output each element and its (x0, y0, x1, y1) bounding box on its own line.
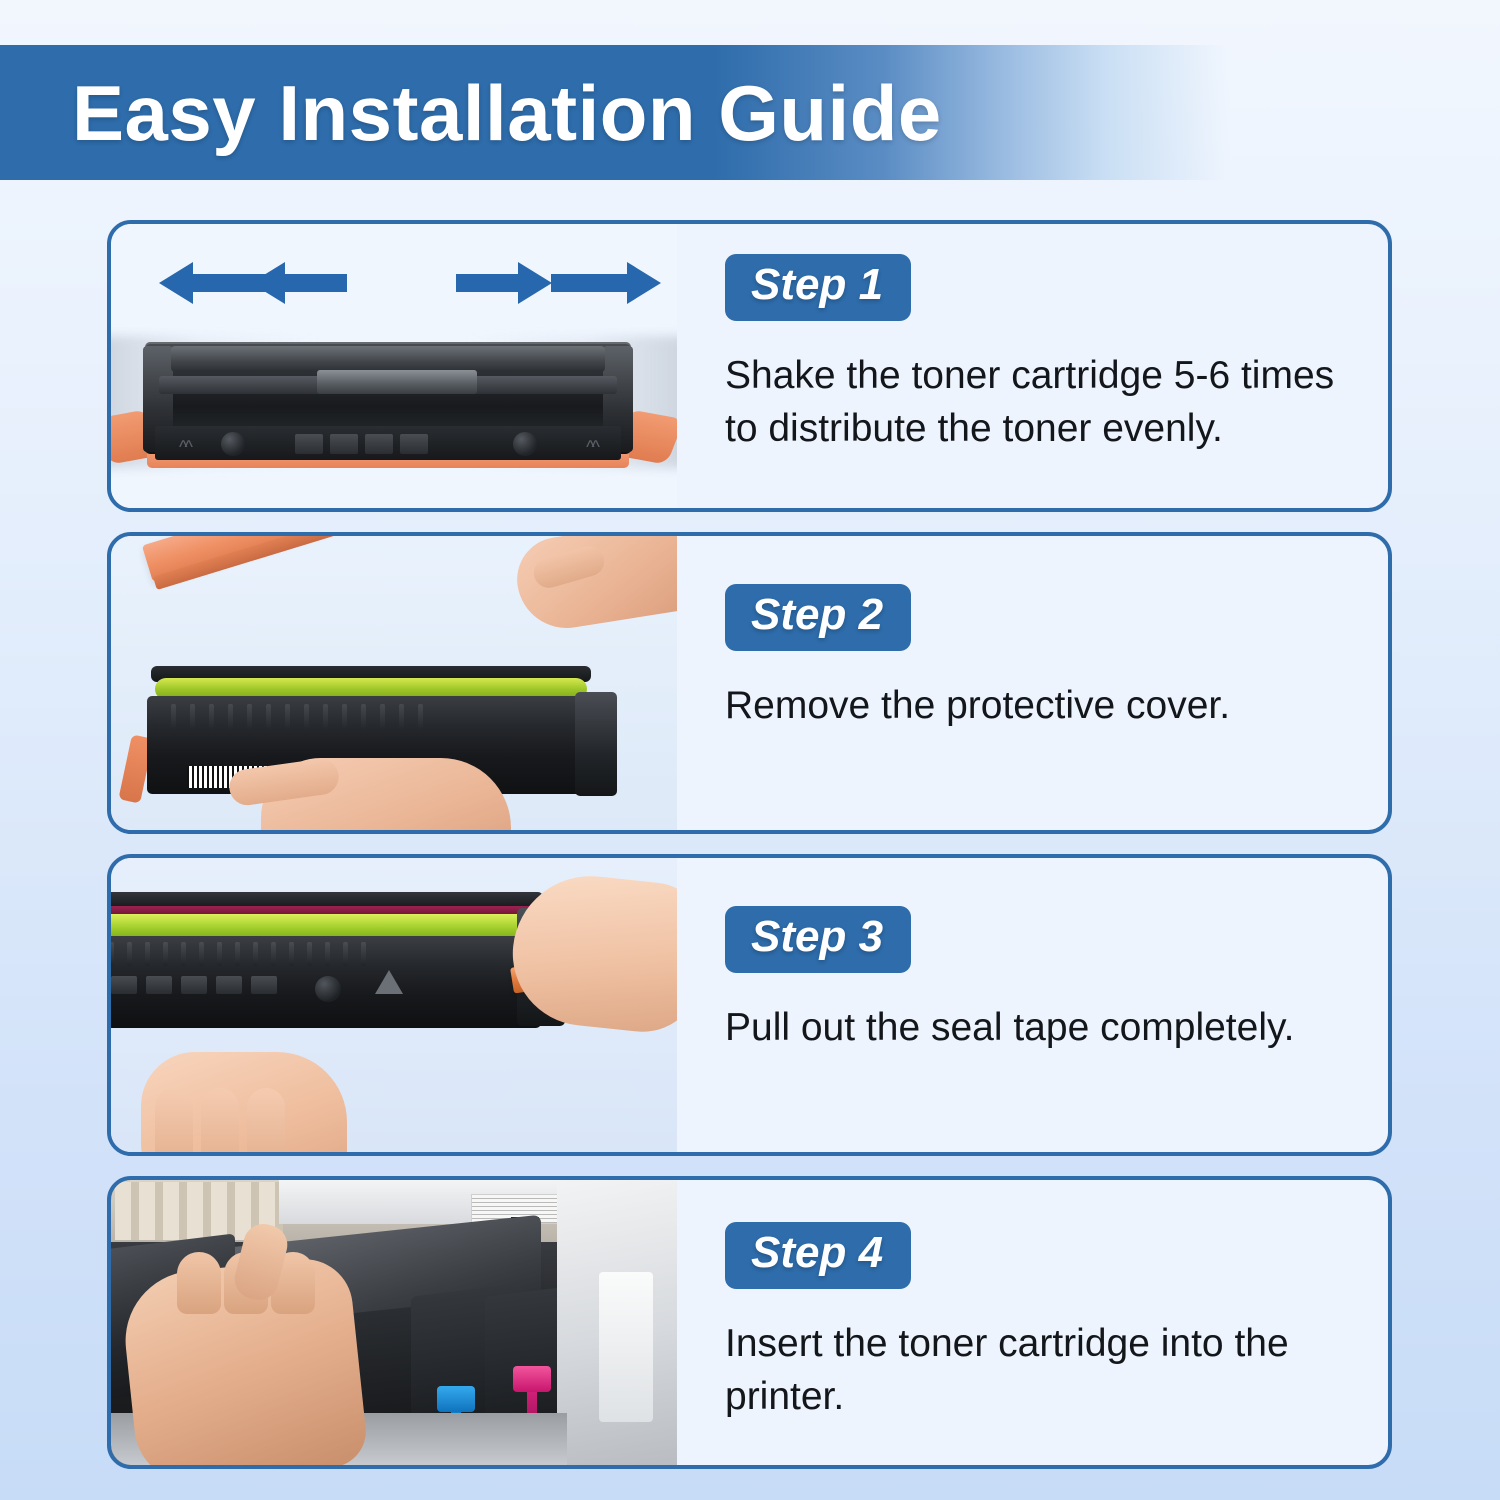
cartridge-ribs (171, 704, 423, 730)
step-1-badge: Step 1 (725, 254, 911, 321)
cartridge-chevron-right-icon: ^^ (586, 437, 597, 458)
cartridge-up-arrow-icon (375, 970, 403, 994)
shake-arrow-right-2-icon (551, 262, 661, 304)
step-3-text: Pull out the seal tape completely. (725, 1001, 1335, 1055)
shake-arrow-right-1-icon (456, 262, 552, 304)
step-card-2: Step 2 Remove the protective cover. (107, 532, 1392, 834)
cartridge-graphic (111, 892, 553, 1028)
step-card-4: Step 4 Insert the toner cartridge into t… (107, 1176, 1392, 1469)
cartridge-chevron-left-icon: ^^ (179, 437, 190, 458)
magenta-clip (513, 1366, 551, 1392)
step-1-text: Shake the toner cartridge 5-6 times to d… (725, 349, 1335, 457)
cartridge-warning-pictograms (111, 976, 277, 994)
cartridge-warning-pictograms (295, 434, 428, 454)
step-2-image (111, 536, 677, 830)
step-2-text: Remove the protective cover. (725, 679, 1335, 733)
cartridge-top-rail (171, 346, 605, 372)
green-imaging-drum (111, 914, 539, 938)
step-4-badge: Step 4 (725, 1222, 911, 1289)
step-4-image (111, 1180, 677, 1465)
cartridge-hole-left (221, 432, 245, 456)
step-3-image (111, 858, 677, 1152)
shake-arrows-group (111, 256, 677, 310)
step-3-badge: Step 3 (725, 906, 911, 973)
page-title: Easy Installation Guide (72, 74, 942, 152)
step-4-text: Insert the toner cartridge into the prin… (725, 1317, 1335, 1425)
cartridge-endcap-right (575, 692, 617, 796)
shake-arrow-left-2-icon (251, 262, 347, 304)
printer-door-flap (599, 1272, 653, 1422)
cartridge-hole (315, 976, 341, 1002)
header-banner: Easy Installation Guide (0, 45, 1230, 180)
fingers (155, 1088, 285, 1152)
step-1-image: ^^ ^^ (111, 224, 677, 508)
step-3-content: Step 3 Pull out the seal tape completely… (677, 858, 1388, 1152)
cartridge-mid-block (317, 370, 477, 394)
step-1-content: Step 1 Shake the toner cartridge 5-6 tim… (677, 224, 1388, 508)
step-4-content: Step 4 Insert the toner cartridge into t… (677, 1180, 1388, 1465)
step-2-content: Step 2 Remove the protective cover. (677, 536, 1388, 830)
toner-cartridge-graphic: ^^ ^^ (111, 328, 677, 476)
cartridge-ribs (111, 942, 366, 966)
step-2-badge: Step 2 (725, 584, 911, 651)
step-card-3: Step 3 Pull out the seal tape completely… (107, 854, 1392, 1156)
steps-list: ^^ ^^ Step 1 Shake the toner cartridge 5… (107, 220, 1392, 1489)
step-card-1: ^^ ^^ Step 1 Shake the toner cartridge 5… (107, 220, 1392, 512)
cartridge-hole-right (513, 432, 537, 456)
cyan-clip (437, 1386, 475, 1412)
cartridge-body-group: ^^ ^^ (145, 332, 631, 468)
